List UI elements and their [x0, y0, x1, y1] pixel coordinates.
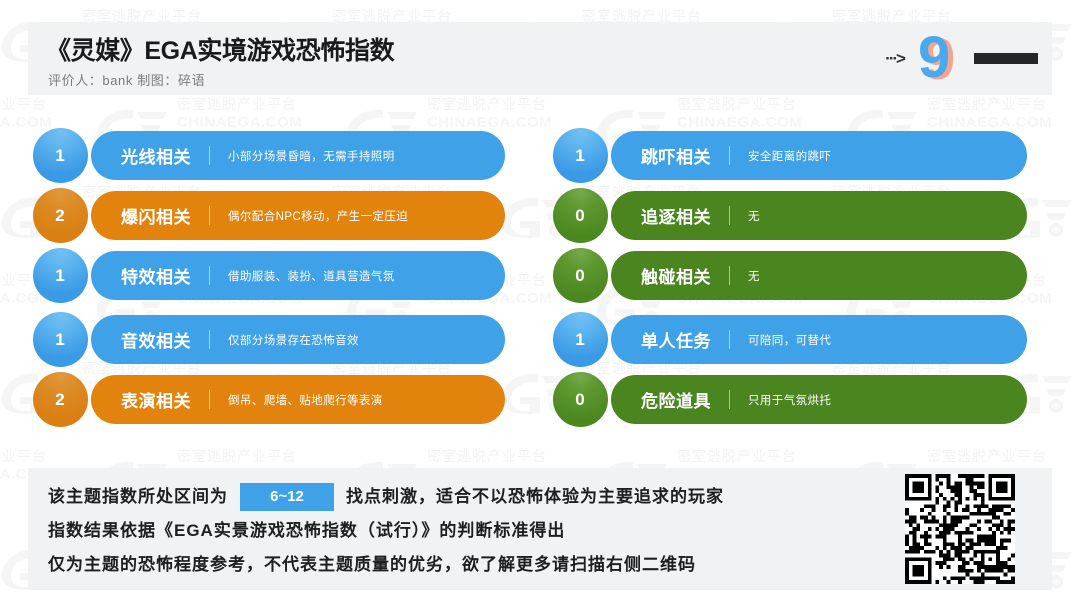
criteria-row: 1跳吓相关安全距离的跳吓: [553, 131, 1027, 180]
criteria-description: 偶尔配合NPC移动，产生一定压迫: [228, 208, 408, 224]
footer-text-block: 该主题指数所处区间为 6~12 找点刺激，适合不以恐怖体验为主要追求的玩家 指数…: [48, 480, 878, 582]
criteria-score-badge: 2: [33, 188, 88, 243]
criteria-score-badge: 0: [553, 372, 608, 427]
criteria-title: 跳吓相关: [641, 143, 711, 168]
criteria-divider: [729, 330, 730, 349]
criteria-pill: 单人任务可陪同，可替代: [611, 315, 1027, 364]
criteria-row: 1音效相关仅部分场景存在恐怖音效: [33, 315, 505, 364]
criteria-row: 2爆闪相关偶尔配合NPC移动，产生一定压迫: [33, 191, 505, 240]
criteria-divider: [729, 146, 730, 165]
criteria-score-badge: 1: [553, 128, 608, 183]
criteria-description: 安全距离的跳吓: [748, 148, 831, 164]
criteria-divider: [209, 390, 210, 409]
footer-line-1-before: 该主题指数所处区间为: [48, 480, 228, 514]
criteria-title: 追逐相关: [641, 203, 711, 228]
criteria-description: 小部分场景昏暗，无需手持照明: [228, 148, 395, 164]
criteria-description: 无: [748, 208, 760, 224]
criteria-pill: 音效相关仅部分场景存在恐怖音效: [91, 315, 505, 364]
criteria-row: 0追逐相关无: [553, 191, 1027, 240]
criteria-description: 借助服装、装扮、道具营造气氛: [228, 268, 395, 284]
criteria-row: 1特效相关借助服装、装扮、道具营造气氛: [33, 251, 505, 300]
criteria-divider: [729, 390, 730, 409]
range-badge: 6~12: [240, 483, 334, 511]
criteria-title: 单人任务: [641, 327, 711, 352]
criteria-title: 特效相关: [121, 263, 191, 288]
criteria-divider: [209, 330, 210, 349]
criteria-divider: [209, 206, 210, 225]
criteria-row: 0危险道具只用于气氛烘托: [553, 375, 1027, 424]
criteria-pill: 危险道具只用于气氛烘托: [611, 375, 1027, 424]
criteria-row: 0触碰相关无: [553, 251, 1027, 300]
criteria-divider: [209, 266, 210, 285]
criteria-description: 倒吊、爬墙、贴地爬行等表演: [228, 392, 383, 408]
footer-line-1-after: 找点刺激，适合不以恐怖体验为主要追求的玩家: [346, 480, 724, 514]
criteria-score-badge: 1: [553, 312, 608, 367]
footer-line-3: 仅为主题的恐怖程度参考，不代表主题质量的优劣，欲了解更多请扫描右侧二维码: [48, 548, 878, 582]
criteria-score-badge: 1: [33, 128, 88, 183]
criteria-pill: 跳吓相关安全距离的跳吓: [611, 131, 1027, 180]
criteria-title: 危险道具: [641, 387, 711, 412]
criteria-description: 可陪同，可替代: [748, 332, 831, 348]
criteria-row: 2表演相关倒吊、爬墙、贴地爬行等表演: [33, 375, 505, 424]
criteria-title: 表演相关: [121, 387, 191, 412]
criteria-divider: [209, 146, 210, 165]
footer-panel: 该主题指数所处区间为 6~12 找点刺激，适合不以恐怖体验为主要追求的玩家 指数…: [28, 468, 1052, 590]
criteria-pill: 光线相关小部分场景昏暗，无需手持照明: [91, 131, 505, 180]
criteria-score-badge: 1: [33, 248, 88, 303]
criteria-divider: [729, 206, 730, 225]
footer-line-2: 指数结果依据《EGA实景游戏恐怖指数（试行）》的判断标准得出: [48, 514, 878, 548]
criteria-pill: 特效相关借助服装、装扮、道具营造气氛: [91, 251, 505, 300]
qr-code[interactable]: [890, 474, 1030, 584]
criteria-description: 只用于气氛烘托: [748, 392, 831, 408]
criteria-row: 1单人任务可陪同，可替代: [553, 315, 1027, 364]
criteria-description: 仅部分场景存在恐怖音效: [228, 332, 359, 348]
criteria-pill: 触碰相关无: [611, 251, 1027, 300]
criteria-score-badge: 2: [33, 372, 88, 427]
criteria-score-badge: 1: [33, 312, 88, 367]
criteria-title: 爆闪相关: [121, 203, 191, 228]
criteria-score-badge: 0: [553, 248, 608, 303]
criteria-title: 光线相关: [121, 143, 191, 168]
criteria-row: 1光线相关小部分场景昏暗，无需手持照明: [33, 131, 505, 180]
footer-line-1: 该主题指数所处区间为 6~12 找点刺激，适合不以恐怖体验为主要追求的玩家: [48, 480, 878, 514]
criteria-divider: [729, 266, 730, 285]
qr-code-canvas: [905, 474, 1015, 584]
criteria-pill: 表演相关倒吊、爬墙、贴地爬行等表演: [91, 375, 505, 424]
criteria-title: 音效相关: [121, 327, 191, 352]
criteria-pill: 爆闪相关偶尔配合NPC移动，产生一定压迫: [91, 191, 505, 240]
criteria-score-badge: 0: [553, 188, 608, 243]
criteria-title: 触碰相关: [641, 263, 711, 288]
criteria-description: 无: [748, 268, 760, 284]
criteria-pill: 追逐相关无: [611, 191, 1027, 240]
